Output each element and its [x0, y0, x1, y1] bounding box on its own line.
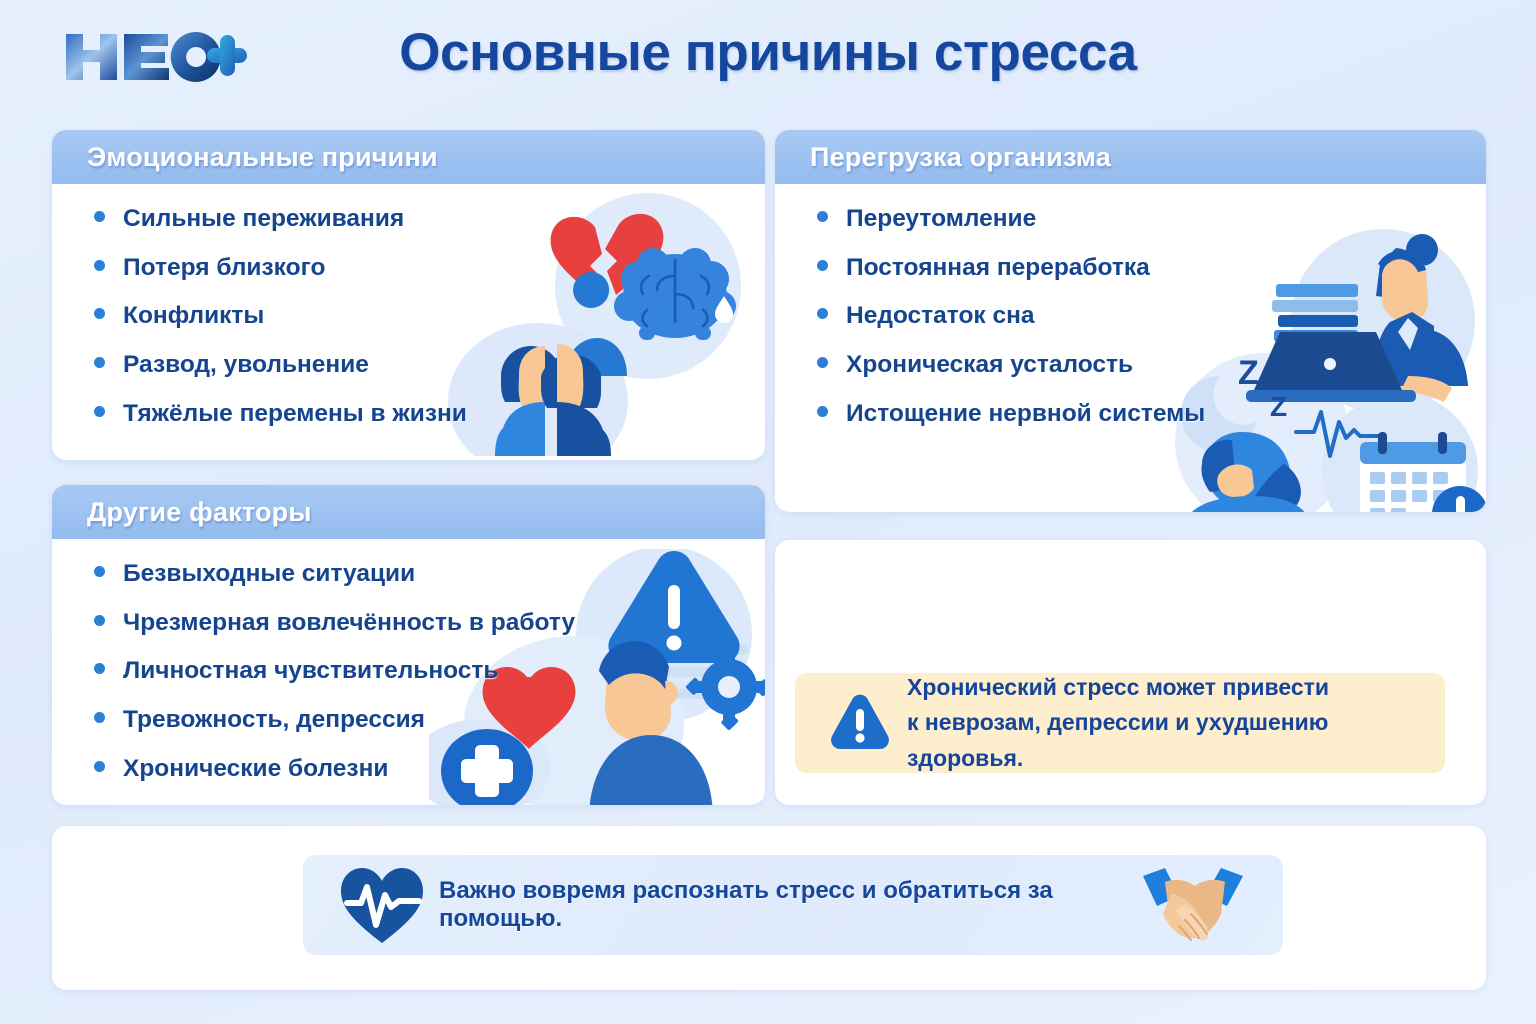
- card-other-factors-header: Другие факторы: [52, 485, 765, 539]
- bullet-dot-icon: [94, 712, 105, 723]
- bullet-dot-icon: [817, 357, 828, 368]
- bullet-dot-icon: [817, 260, 828, 271]
- card-emotional-header: Эмоциональные причини: [52, 130, 765, 184]
- list-item: Развод, увольнение: [94, 352, 735, 378]
- footer-banner: Важно вовремя распознать стресс и обрати…: [303, 855, 1283, 955]
- bullet-dot-icon: [817, 308, 828, 319]
- list-item: Недостаток сна: [817, 303, 1456, 329]
- list-item-label: Хроническая усталость: [846, 352, 1133, 378]
- list-item-label: Развод, увольнение: [123, 352, 369, 378]
- card-other-factors-list: Безвыходные ситуации Чрезмерная вовлечён…: [94, 561, 735, 782]
- list-item: Тревожность, депрессия: [94, 707, 735, 733]
- list-item-label: Конфликты: [123, 303, 264, 329]
- warning-line-2: к неврозам, депрессии и ухудшению здоров…: [907, 705, 1445, 776]
- warning-triangle-icon: [829, 692, 891, 754]
- bullet-dot-icon: [94, 406, 105, 417]
- bullet-dot-icon: [94, 615, 105, 626]
- warning-callout: Хронический стресс может привести к невр…: [795, 673, 1445, 773]
- list-item: Постоянная переработка: [817, 255, 1456, 281]
- list-item: Тяжёлые перемены в жизни: [94, 401, 735, 427]
- heart-pulse-icon: [339, 865, 425, 945]
- footer-text: Важно вовремя распознать стресс и обрати…: [439, 877, 1139, 933]
- infographic-page: Основные причины стресса Эмоциональные п…: [0, 0, 1536, 1024]
- list-item: Сильные переживания: [94, 206, 735, 232]
- list-item-label: Переутомление: [846, 206, 1036, 232]
- card-overload-title: Перегрузка организма: [810, 142, 1111, 173]
- list-item-label: Потеря близкого: [123, 255, 325, 281]
- card-overload-body: Z Z: [775, 184, 1486, 512]
- list-item-label: Тревожность, депрессия: [123, 707, 425, 733]
- card-overload: Перегрузка организма: [775, 130, 1486, 512]
- list-item-label: Хронические болезни: [123, 756, 388, 782]
- list-item: Чрезмерная вовлечённость в работу: [94, 610, 735, 636]
- bullet-dot-icon: [817, 406, 828, 417]
- list-item: Хронические болезни: [94, 756, 735, 782]
- page-title: Основные причины стресса: [0, 22, 1536, 83]
- bullet-dot-icon: [94, 566, 105, 577]
- list-item: Личностная чувствительность: [94, 658, 735, 684]
- list-item-label: Недостаток сна: [846, 303, 1035, 329]
- card-other-factors: Другие факторы: [52, 485, 765, 805]
- bullet-dot-icon: [94, 211, 105, 222]
- warning-text-block: Хронический стресс может привести к невр…: [907, 670, 1445, 777]
- bullet-dot-icon: [94, 308, 105, 319]
- list-item-label: Безвыходные ситуации: [123, 561, 415, 587]
- bullet-dot-icon: [817, 211, 828, 222]
- list-item-label: Чрезмерная вовлечённость в работу: [123, 610, 575, 636]
- handshake-icon: [1139, 864, 1247, 946]
- card-other-factors-body: Безвыходные ситуации Чрезмерная вовлечён…: [52, 539, 765, 805]
- warning-line-1: Хронический стресс может привести: [907, 670, 1445, 706]
- card-emotional-title: Эмоциональные причини: [87, 142, 438, 173]
- list-item-label: Личностная чувствительность: [123, 658, 499, 684]
- card-other-factors-title: Другие факторы: [87, 497, 312, 528]
- list-item: Потеря близкого: [94, 255, 735, 281]
- list-item: Истощение нервной системы: [817, 401, 1456, 427]
- bullet-dot-icon: [94, 761, 105, 772]
- list-item: Безвыходные ситуации: [94, 561, 735, 587]
- bullet-dot-icon: [94, 260, 105, 271]
- list-item-label: Истощение нервной системы: [846, 401, 1205, 427]
- list-item-label: Сильные переживания: [123, 206, 404, 232]
- list-item: Переутомление: [817, 206, 1456, 232]
- card-emotional-list: Сильные переживания Потеря близкого Конф…: [94, 206, 735, 427]
- card-overload-header: Перегрузка организма: [775, 130, 1486, 184]
- card-emotional-body: Сильные переживания Потеря близкого Конф…: [52, 184, 765, 460]
- list-item-label: Постоянная переработка: [846, 255, 1150, 281]
- bullet-dot-icon: [94, 357, 105, 368]
- card-emotional: Эмоциональные причини: [52, 130, 765, 460]
- list-item: Хроническая усталость: [817, 352, 1456, 378]
- bullet-dot-icon: [94, 663, 105, 674]
- card-overload-list: Переутомление Постоянная переработка Нед…: [817, 206, 1456, 427]
- list-item-label: Тяжёлые перемены в жизни: [123, 401, 467, 427]
- list-item: Конфликты: [94, 303, 735, 329]
